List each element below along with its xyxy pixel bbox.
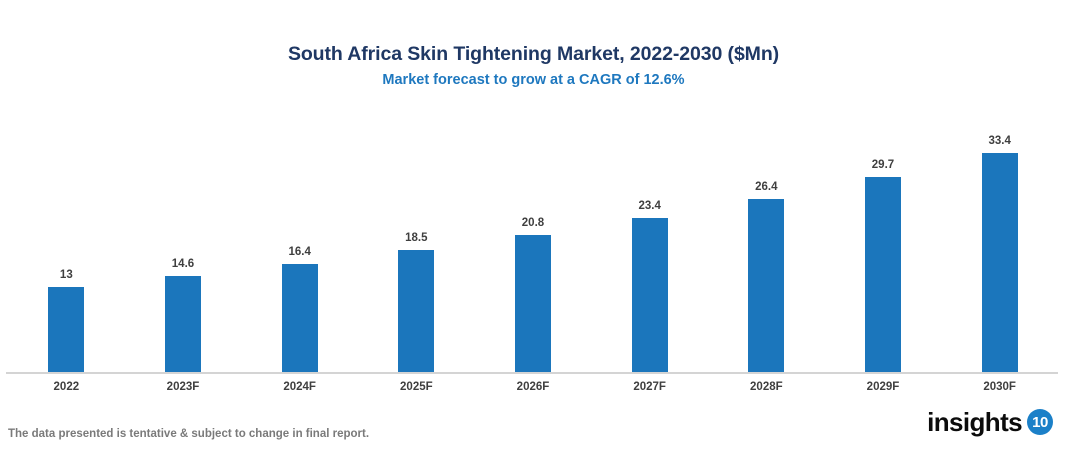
bar[interactable] <box>398 250 434 372</box>
bar[interactable] <box>865 177 901 372</box>
bar-group: 33.42030F <box>941 100 1058 372</box>
bar-group: 14.62023F <box>125 100 242 372</box>
bar-group: 26.42028F <box>708 100 825 372</box>
bar[interactable] <box>282 264 318 372</box>
bar[interactable] <box>48 287 84 372</box>
insights10-logo: insights 10 <box>927 409 1053 435</box>
x-axis-tick-label: 2028F <box>750 381 783 393</box>
x-axis-tick-label: 2025F <box>400 381 433 393</box>
chart-subtitle: Market forecast to grow at a CAGR of 12.… <box>0 72 1067 88</box>
x-axis-tick-label: 2027F <box>633 381 666 393</box>
bar-value-label: 29.7 <box>872 159 894 171</box>
page-title: South Africa Skin Tightening Market, 202… <box>0 43 1067 66</box>
bar-value-label: 23.4 <box>638 200 660 212</box>
bar-value-label: 14.6 <box>172 258 194 270</box>
bar-value-label: 18.5 <box>405 232 427 244</box>
x-axis-line <box>6 372 1058 374</box>
logo-wordmark: insights <box>927 409 1022 435</box>
x-axis-tick-label: 2026F <box>517 381 550 393</box>
bar-group: 132022 <box>8 100 125 372</box>
bar[interactable] <box>515 235 551 372</box>
bar[interactable] <box>982 153 1018 372</box>
logo-badge-icon: 10 <box>1027 409 1053 435</box>
disclaimer-text: The data presented is tentative & subjec… <box>8 428 369 440</box>
x-axis-tick-label: 2030F <box>983 381 1016 393</box>
bar[interactable] <box>748 199 784 372</box>
x-axis-tick-label: 2024F <box>283 381 316 393</box>
bar[interactable] <box>165 276 201 372</box>
bar-group: 18.52025F <box>358 100 475 372</box>
bar-group: 29.72029F <box>825 100 942 372</box>
bar-group: 16.42024F <box>241 100 358 372</box>
x-axis-tick-label: 2022 <box>54 381 80 393</box>
chart-canvas: South Africa Skin Tightening Market, 202… <box>0 0 1067 454</box>
bar-value-label: 26.4 <box>755 181 777 193</box>
bar[interactable] <box>632 218 668 372</box>
bar-group: 23.42027F <box>591 100 708 372</box>
bar-value-label: 13 <box>60 269 73 281</box>
bar-value-label: 20.8 <box>522 217 544 229</box>
bar-value-label: 16.4 <box>288 246 310 258</box>
x-axis-tick-label: 2029F <box>867 381 900 393</box>
plot-area: 13202214.62023F16.42024F18.52025F20.8202… <box>0 100 1067 374</box>
bar-group: 20.82026F <box>475 100 592 372</box>
x-axis-tick-label: 2023F <box>167 381 200 393</box>
bar-value-label: 33.4 <box>988 135 1010 147</box>
